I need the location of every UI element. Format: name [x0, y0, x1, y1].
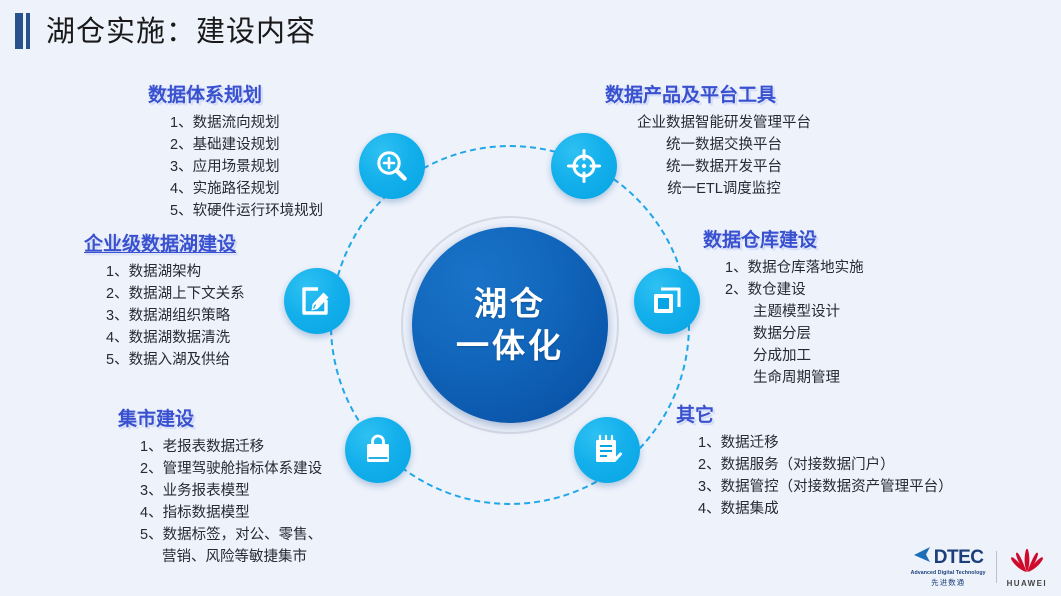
huawei-logo: HUAWEI — [1007, 547, 1047, 588]
target-icon — [566, 148, 602, 184]
slide-canvas: 湖仓实施：建设内容 数据体系规划 1、数据流向规划 2、基础建设规划 3、应用场… — [0, 0, 1061, 596]
center-core-circle: 湖仓 一体化 — [412, 227, 608, 423]
node-market-construction[interactable] — [345, 417, 411, 483]
list-item: 5、数据入湖及供给 — [106, 349, 245, 371]
accent-bar-thick — [15, 13, 23, 49]
list-item: 5、数据标签，对公、零售、 — [140, 524, 322, 546]
list-item: 分成加工 — [753, 345, 864, 367]
huawei-flower-icon — [1009, 547, 1045, 578]
list-item: 生命周期管理 — [753, 367, 864, 389]
list-item: 主题模型设计 — [753, 301, 864, 323]
list-item: 2、数仓建设 — [725, 279, 864, 301]
logo-divider — [996, 551, 997, 583]
list-item: 营销、风险等敏捷集市 — [140, 546, 322, 568]
edit-square-icon — [299, 283, 335, 319]
dtec-tagline: Advanced Digital Technology — [911, 570, 986, 576]
list-item: 1、数据仓库落地实施 — [725, 257, 864, 279]
core-label-line1: 湖仓 — [474, 283, 546, 325]
list-item: 数据分层 — [753, 323, 864, 345]
layers-copy-icon — [649, 283, 685, 319]
block-heading: 数据产品及平台工具 — [605, 84, 843, 108]
core-label-line2: 一体化 — [456, 325, 564, 367]
dtec-logo-top: DTEC — [913, 546, 984, 568]
block-enterprise-data-lake: 企业级数据湖建设 1、数据湖架构 2、数据湖上下文关系 3、数据湖组织策略 4、… — [84, 233, 245, 371]
node-data-system-planning[interactable] — [359, 133, 425, 199]
hub-and-spoke-diagram: 湖仓 一体化 — [280, 125, 740, 525]
magnifier-plus-icon — [374, 148, 410, 184]
list-item: 4、数据湖数据清洗 — [106, 327, 245, 349]
dtec-wordmark: DTEC — [934, 548, 984, 567]
page-title: 湖仓实施：建设内容 — [46, 8, 316, 50]
node-data-warehouse[interactable] — [634, 268, 700, 334]
block-list: 1、数据湖架构 2、数据湖上下文关系 3、数据湖组织策略 4、数据湖数据清洗 5… — [84, 261, 245, 371]
logo-area: DTEC Advanced Digital Technology 先进数通 — [911, 546, 1047, 588]
node-data-products-platform[interactable] — [551, 133, 617, 199]
dtec-arrow-icon — [913, 546, 933, 568]
title-bar: 湖仓实施：建设内容 — [0, 0, 1061, 62]
list-item: 1、数据湖架构 — [106, 261, 245, 283]
node-others[interactable] — [574, 417, 640, 483]
dtec-chinese-name: 先进数通 — [931, 577, 965, 588]
title-accent-bars — [15, 13, 33, 49]
list-item: 2、数据湖上下文关系 — [106, 283, 245, 305]
shopping-bag-icon — [360, 432, 396, 468]
dtec-logo: DTEC Advanced Digital Technology 先进数通 — [911, 546, 986, 588]
huawei-wordmark: HUAWEI — [1007, 579, 1047, 588]
block-heading: 企业级数据湖建设 — [84, 233, 245, 257]
list-item: 3、数据湖组织策略 — [106, 305, 245, 327]
accent-bar-thin — [26, 13, 30, 49]
notepad-check-icon — [589, 432, 625, 468]
node-enterprise-data-lake[interactable] — [284, 268, 350, 334]
block-heading: 数据体系规划 — [148, 84, 323, 108]
